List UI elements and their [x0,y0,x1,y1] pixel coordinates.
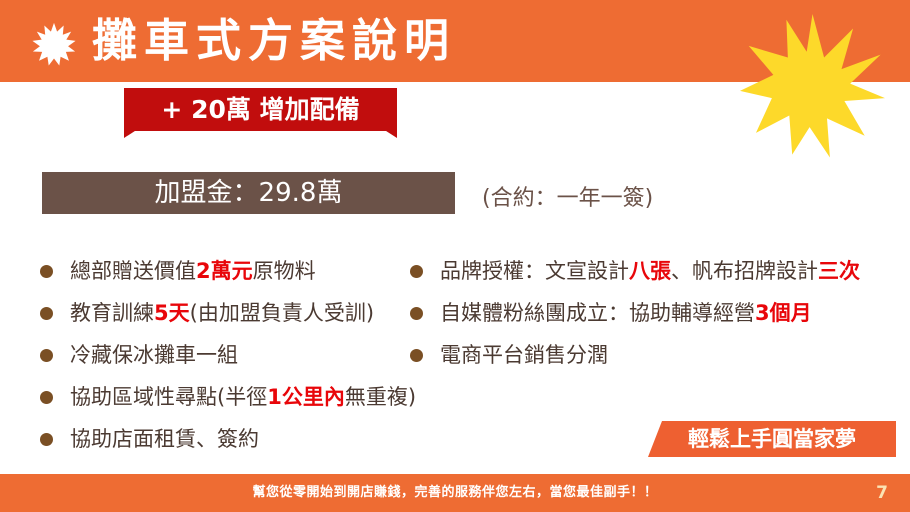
bullet-plain: 總部贈送價值 [70,259,196,283]
bullet-item-label: 協助店面租賃、簽約 [70,418,259,460]
bullet-item-label: 電商平台銷售分潤 [440,334,608,376]
bullet-dot-icon [410,265,423,278]
contract-note: (合約：一年一簽) [482,180,653,212]
franchise-fee-bar: 加盟金：29.8萬 [42,172,455,214]
bullet-item: 協助區域性尋點(半徑1公里內無重複) [40,376,420,418]
bullet-highlight: 5天 [154,301,190,325]
right-bullet-column: 品牌授權：文宣設計八張、帆布招牌設計三次自媒體粉絲團成立：協助輔導經營3個月電商… [410,250,905,376]
bullet-dot-icon [40,391,53,404]
bullet-highlight: 2萬元 [196,259,253,283]
bullet-item: 電商平台銷售分潤 [410,334,905,376]
bullet-plain: 無重複) [345,385,416,409]
bullet-item-label: 總部贈送價值2萬元原物料 [70,250,316,292]
bullet-plain: 協助店面租賃、簽約 [70,427,259,451]
bullet-item-label: 自媒體粉絲團成立：協助輔導經營3個月 [440,292,812,334]
twelve-point-star-icon [740,14,885,159]
bullet-item: 自媒體粉絲團成立：協助輔導經營3個月 [410,292,905,334]
bullet-plain: 協助區域性尋點(半徑 [70,385,267,409]
bullet-item: 冷藏保冰攤車一組 [40,334,420,376]
slide: 攤車式方案說明 + 20萬 增加配備 加盟金：29.8萬 (合約：一年一簽) 總… [0,0,910,512]
footer-tagline: 幫您從零開始到開店賺錢，完善的服務伴您左右，當您最佳副手！！ [0,474,910,512]
footer-band: 幫您從零開始到開店賺錢，完善的服務伴您左右，當您最佳副手！！ 7 [0,474,910,512]
bullet-highlight: 1公里內 [267,385,345,409]
bullet-item-label: 教育訓練5天(由加盟負責人受訓) [70,292,374,334]
tagline-ribbon: 輕鬆上手圓當家夢 [648,421,896,457]
bullet-highlight: 3個月 [755,301,812,325]
bullet-dot-icon [40,349,53,362]
tagline-ribbon-label: 輕鬆上手圓當家夢 [648,421,896,457]
left-bullet-column: 總部贈送價值2萬元原物料教育訓練5天(由加盟負責人受訓)冷藏保冰攤車一組協助區域… [40,250,420,460]
bullet-plain: 冷藏保冰攤車一組 [70,343,238,367]
page-title: 攤車式方案說明 [92,4,456,78]
bullet-item-label: 冷藏保冰攤車一組 [70,334,238,376]
bullet-item: 教育訓練5天(由加盟負責人受訓) [40,292,420,334]
bullet-plain: 原物料 [253,259,316,283]
bullet-item: 總部贈送價值2萬元原物料 [40,250,420,292]
bullet-dot-icon [40,433,53,446]
bullet-dot-icon [410,349,423,362]
page-number: 7 [876,474,888,512]
bullet-item: 品牌授權：文宣設計八張、帆布招牌設計三次 [410,250,905,292]
bullet-dot-icon [410,307,423,320]
bullet-item-label: 協助區域性尋點(半徑1公里內無重複) [70,376,416,418]
bullet-highlight: 八張 [629,259,671,283]
bullet-dot-icon [40,265,53,278]
bullet-highlight: 三次 [818,259,860,283]
bullet-plain: 、帆布招牌設計 [671,259,818,283]
bullet-dot-icon [40,307,53,320]
starburst-icon [32,22,76,66]
bullet-item: 協助店面租賃、簽約 [40,418,420,460]
bullet-plain: 自媒體粉絲團成立：協助輔導經營 [440,301,755,325]
equipment-badge: + 20萬 增加配備 [124,88,397,138]
bullet-plain: 教育訓練 [70,301,154,325]
equipment-badge-label: + 20萬 增加配備 [124,88,397,131]
bullet-plain: 電商平台銷售分潤 [440,343,608,367]
bullet-plain: (由加盟負責人受訓) [190,301,374,325]
bullet-item-label: 品牌授權：文宣設計八張、帆布招牌設計三次 [440,250,860,292]
bullet-plain: 品牌授權：文宣設計 [440,259,629,283]
franchise-fee-label: 加盟金：29.8萬 [42,172,455,214]
